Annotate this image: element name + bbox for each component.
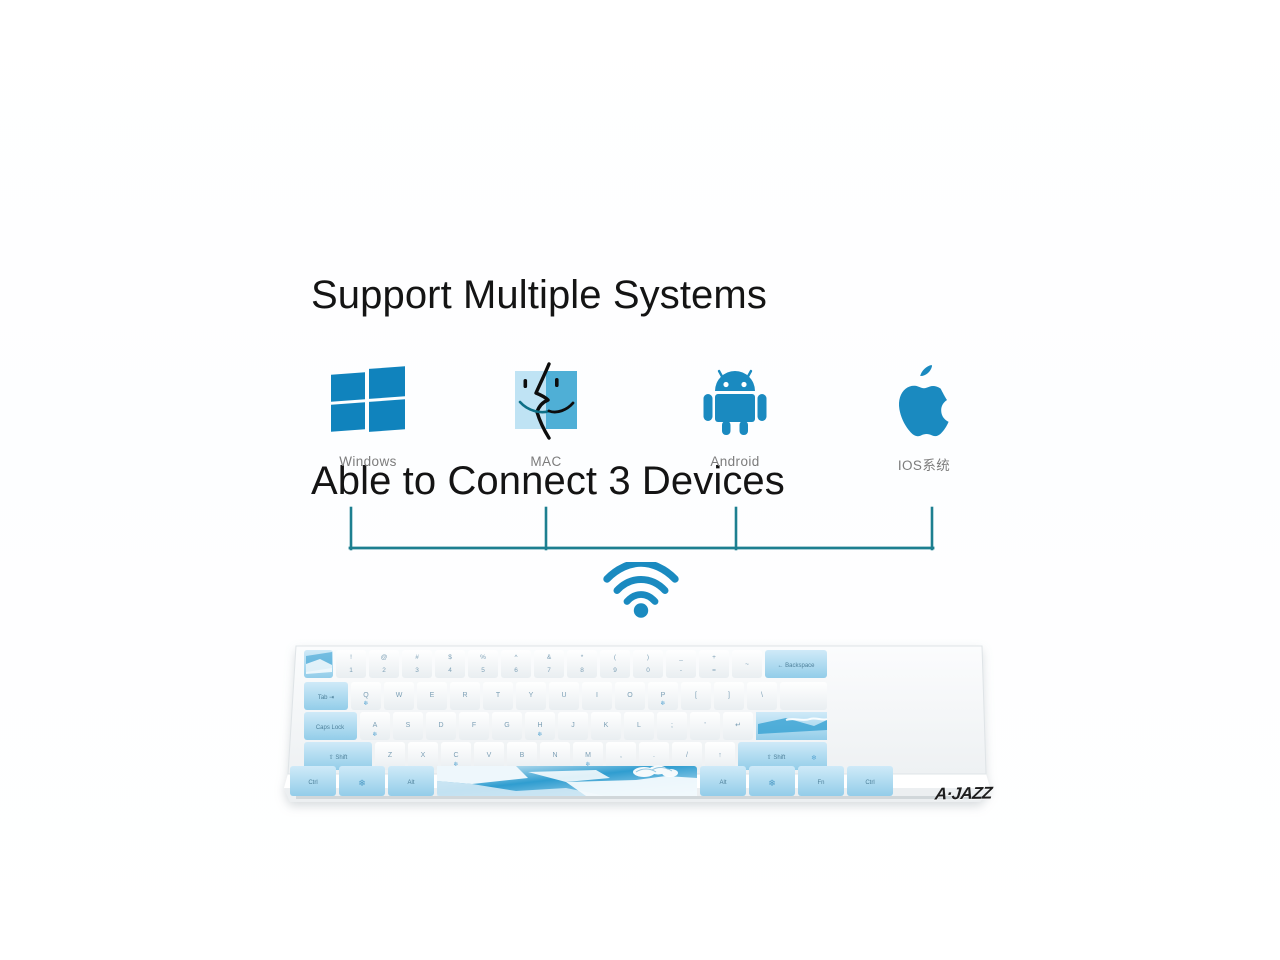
svg-text:3: 3 [415,667,419,674]
svg-text:&: & [547,654,552,661]
os-label-windows: Windows [278,454,458,469]
svg-text:D: D [438,722,443,729]
svg-text:M: M [585,752,591,759]
svg-text:_: _ [678,654,683,661]
svg-text:❄: ❄ [537,731,542,738]
svg-text:7: 7 [547,667,551,674]
svg-text:[: [ [695,692,697,699]
svg-text:Z: Z [388,752,393,759]
svg-text:': ' [704,722,705,729]
os-item-ios: IOS系统 [834,352,1014,474]
product-keyboard: ← Backspace !1 @2 #3 $4 %5 ^6 &7 *8 (9 )… [266,606,1014,822]
svg-text:5: 5 [481,667,485,674]
svg-text:4: 4 [448,667,452,674]
svg-text:A: A [373,722,378,729]
svg-text:I: I [596,692,598,699]
svg-text:L: L [637,722,641,729]
svg-text:-: - [680,667,682,674]
svg-text:$: $ [448,654,452,661]
os-support-row: Windows MAC [280,352,1020,478]
svg-text:V: V [487,752,492,759]
svg-text:6: 6 [514,667,518,674]
svg-text:Y: Y [529,692,534,699]
svg-text:;: ; [671,722,673,729]
svg-text:Alt: Alt [407,780,414,786]
svg-text:Fn: Fn [817,780,824,786]
svg-text:8: 8 [580,667,584,674]
svg-text:❄: ❄ [660,700,665,707]
svg-text:G: G [504,722,509,729]
svg-text:Caps Lock: Caps Lock [316,725,345,731]
svg-text:❄: ❄ [358,778,366,788]
svg-text:,: , [620,752,622,759]
svg-text:O: O [627,692,633,699]
svg-text:❄: ❄ [372,731,377,738]
svg-text:P: P [661,692,666,699]
os-label-android: Android [645,454,825,469]
svg-text:↵: ↵ [735,722,741,729]
svg-text:.: . [653,752,655,759]
mac-finder-icon [456,352,636,448]
svg-text:N: N [552,752,557,759]
svg-text:+: + [712,654,716,661]
apple-logo-icon [834,352,1014,448]
svg-text:K: K [604,722,609,729]
headline-line-1: Support Multiple Systems [311,264,1071,326]
svg-text:Alt: Alt [719,780,726,786]
svg-text:R: R [462,692,467,699]
svg-text:⇧ Shift: ⇧ Shift [329,754,348,761]
svg-text:2: 2 [382,667,386,674]
svg-text:↑: ↑ [718,752,722,759]
svg-text:T: T [496,692,501,699]
svg-text:X: X [421,752,426,759]
svg-text:U: U [561,692,566,699]
svg-text:B: B [520,752,525,759]
svg-text:/: / [686,752,688,759]
svg-text:9: 9 [613,667,617,674]
svg-text:S: S [406,722,411,729]
os-item-android: Android [645,352,825,469]
svg-text:Ctrl: Ctrl [865,780,874,786]
svg-text:@: @ [381,654,388,661]
svg-text:E: E [430,692,435,699]
os-label-mac: MAC [456,454,636,469]
android-robot-icon [645,352,825,448]
svg-text:Q: Q [363,692,369,699]
svg-text:C: C [453,752,458,759]
os-item-mac: MAC [456,352,636,469]
windows-logo-icon [278,352,458,448]
svg-text:Ctrl: Ctrl [308,780,317,786]
svg-text:J: J [571,722,575,729]
keyboard-illustration: ← Backspace !1 @2 #3 $4 %5 ^6 &7 *8 (9 )… [266,606,1014,822]
content-area: Support Multiple Systems Able to Connect… [0,0,1280,960]
svg-text:1: 1 [349,667,353,674]
svg-text:]: ] [728,692,730,699]
page-canvas: Support Multiple Systems Able to Connect… [0,0,1280,960]
svg-text:\: \ [761,692,763,699]
svg-text:#: # [415,654,419,661]
os-label-ios: IOS系统 [834,454,1014,474]
svg-text:Tab ⇥: Tab ⇥ [318,695,334,701]
svg-text:F: F [472,722,476,729]
svg-text:⇧ Shift: ⇧ Shift [767,754,786,761]
svg-text:← Backspace: ← Backspace [777,663,815,669]
svg-text:%: % [480,654,486,661]
svg-text:~: ~ [745,661,749,668]
svg-text:0: 0 [646,667,650,674]
svg-text:❄: ❄ [811,754,817,762]
svg-text:=: = [712,667,716,674]
svg-text:): ) [647,654,649,661]
brand-logo: A·JAZZ [934,783,993,804]
svg-text:W: W [396,692,403,699]
os-item-windows: Windows [278,352,458,469]
bracket-connector [280,498,1020,558]
svg-text:❄: ❄ [363,700,368,707]
svg-text:!: ! [350,654,352,661]
svg-text:H: H [537,722,542,729]
svg-text:❄: ❄ [768,778,776,788]
